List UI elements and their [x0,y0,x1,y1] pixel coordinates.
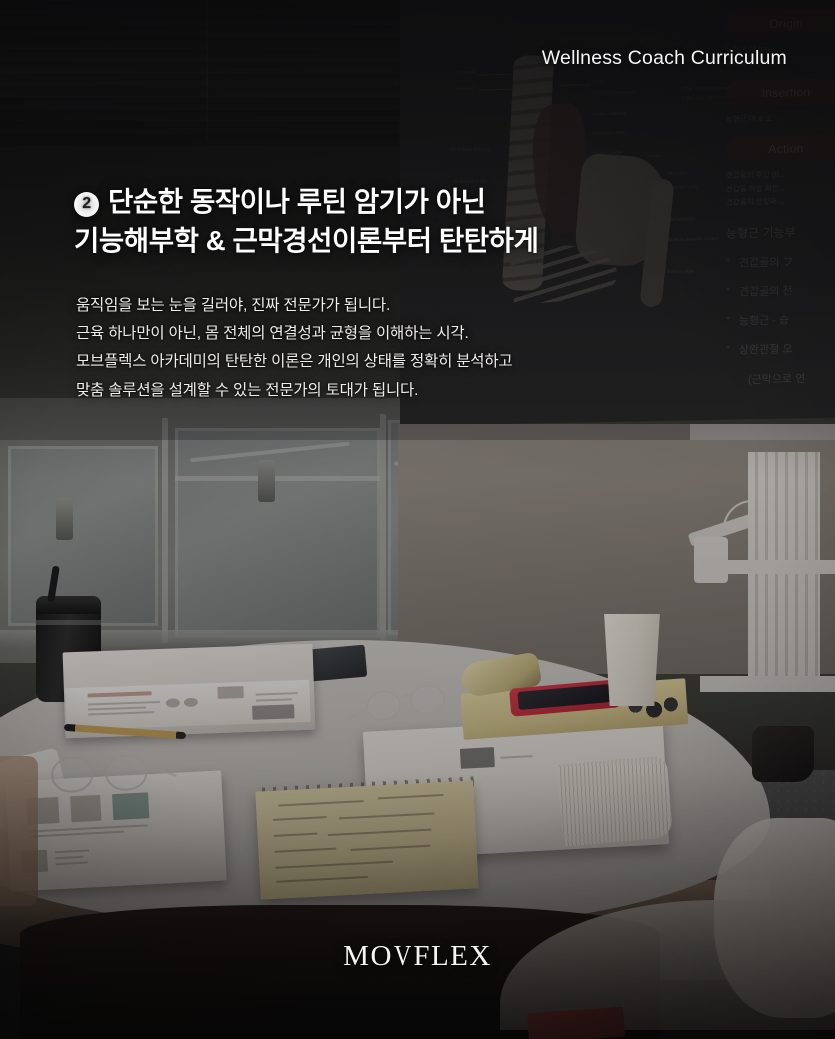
book-page-fan [557,755,674,846]
page-text-line [28,824,148,832]
handwriting-line [378,794,444,799]
handwriting-line [276,876,368,882]
figure-label: Clavicle [646,153,662,158]
page-graphic [88,691,152,697]
window-mullion [162,418,168,643]
bullet-dot-icon: • [726,254,730,270]
leader-line [560,84,590,86]
spiral-notepad [255,780,478,899]
figure-label: Rhomboid minor [592,130,625,136]
slide-bullet: • 견갑골의 전 [726,281,835,299]
slide-pill-insertion: Insertion [726,79,835,107]
figure-caption: f The pectoralis minor [682,86,730,94]
slide-action-line: 견갑골의 안정화 ... [726,193,835,209]
page-text-line [28,831,124,838]
wall-shelf [700,560,835,574]
wall-shelf [700,676,835,692]
page-graphic [166,698,180,707]
window-mullion [380,414,386,642]
slide-bullet: • 견갑골의 フ [726,252,835,270]
headline-line-1: 단순한 동작이나 루틴 암기가 아닌 [108,186,486,217]
wall-lamp [258,460,275,502]
anatomy-diagram: C1 (atlas) C2 (axis) C7-C4 transverse pr… [460,46,710,301]
handwriting-line [274,833,318,837]
page-text-line [88,711,154,715]
handwriting-line [274,848,336,853]
figure-label: C1 (atlas) [456,70,476,75]
photo-background: C1 (atlas) C2 (axis) C7-C4 transverse pr… [0,0,835,1039]
figure-label: Inferior angle [668,268,694,274]
slide-bullet: • 상완관절 오 [726,339,835,357]
page-text-line [56,862,88,865]
curriculum-header-label: Wellness Coach Curriculum [542,47,787,70]
textbook-page [65,680,310,730]
page-text-line [55,849,89,852]
body-line-4: 맞춤 솔루션을 설계할 수 있는 전문가의 토대가 됩니다. [76,377,736,405]
chair [0,756,38,906]
page-graphic [460,747,495,769]
body-line-1: 움직임을 보는 눈을 길러야, 진짜 전문가가 됩니다. [76,292,736,320]
page-text-line [88,701,160,705]
leader-line [478,74,512,76]
slide-bullet-label: 능형근 - 승 [739,311,789,328]
slide-pill-origin: Origin [726,9,835,37]
promo-card: C1 (atlas) C2 (axis) C7-C4 transverse pr… [0,0,835,1039]
step-number-badge: 2 [74,192,99,217]
page-title: 2단순한 동작이나 루틴 암기가 아닌 기능해부학 & 근막경선이론부터 탄탄하… [74,182,694,261]
tumbler-lid [36,596,101,614]
window-mullion [175,476,380,481]
figure-label: transverse processes [592,89,635,95]
figure-label: Superior angle [592,150,621,156]
slide-bullet: • 능형근 - 승 [726,310,835,328]
page-graphic [184,698,198,707]
handwriting-line [339,812,435,819]
logo-v-glyph: V [394,940,412,973]
leader-line [478,89,512,91]
figure-label: C7-C4 [592,79,605,84]
paper-cup [601,614,663,706]
slide-bullet-label: 견갑골의 전 [739,282,793,299]
page-graphic [252,704,294,719]
figure-label: C7 spinous process [450,146,490,152]
handwriting-line [273,816,327,820]
venetian-blinds [0,0,399,146]
brand-logo: MOVFLEX [0,940,835,973]
logo-part-1: MO [343,940,393,972]
slide-bullet-label: 견갑골의 フ [739,253,794,270]
handwriting-line [275,861,393,869]
body-line-3: 모브플렉스 아카데미의 탄탄한 이론은 개인의 상태를 정확히 분석하고 [76,348,736,376]
body-line-2: 근육 하나만이 아닌, 몸 전체의 연결성과 균형을 이해하는 시각. [76,320,736,348]
handwriting-line [350,845,430,851]
logo-part-2: FLEX [413,940,492,972]
wall-lamp [56,498,73,540]
page-graphic [217,686,243,699]
page-graphic [112,792,149,820]
blind-cord [206,0,208,142]
body-copy: 움직임을 보는 눈을 길러야, 진짜 전문가가 됩니다. 근육 하나만이 아닌,… [76,292,736,405]
page-text-line [88,706,146,710]
figure-label: Acromion [668,170,687,175]
slide-pill-action: Action [726,135,835,163]
slide-section-heading: 능형근 기능부 [726,222,835,241]
page-graphic [70,795,101,823]
figure-label: Levator scapulae [592,111,626,117]
figure-label: C2 (axis) [456,85,474,90]
page-text-line [256,698,292,701]
bag [752,726,814,782]
handwriting-line [278,800,364,806]
slide-bullet-label: 상완관절 오 [739,340,793,357]
red-box [527,1007,625,1039]
page-text-line [500,755,532,758]
wall-shelf [690,424,835,440]
slide-note: (근막으로 연 [748,369,835,387]
tumbler-band [36,620,101,625]
page-text-line [256,692,298,695]
page-text-line [55,856,83,859]
handwriting-line [328,829,432,836]
headline-line-2: 기능해부학 & 근막경선이론부터 탄탄하게 [74,221,694,260]
